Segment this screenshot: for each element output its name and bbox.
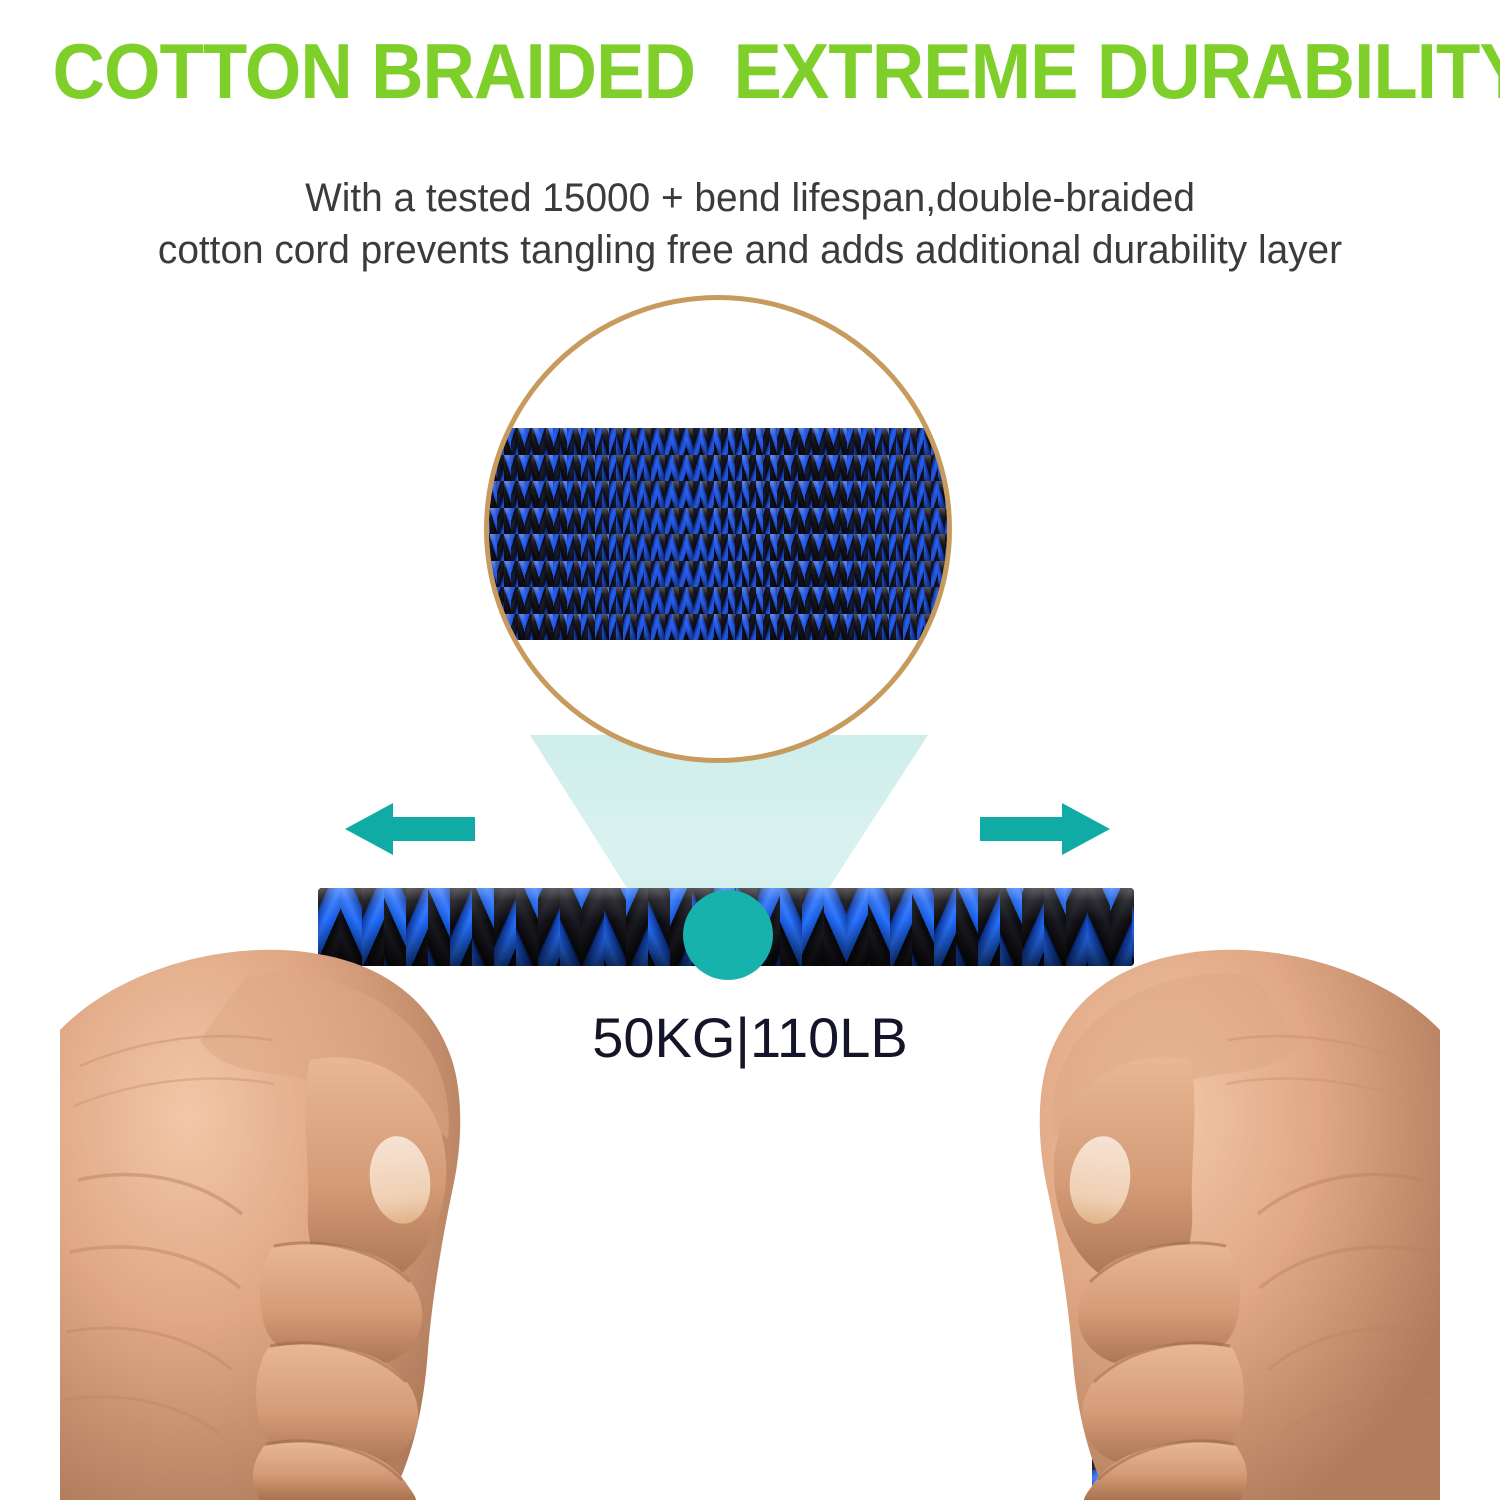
subtitle-line-2: cotton cord prevents tangling free and a… (23, 224, 1478, 276)
subtitle-line-1: With a tested 15000 + bend lifespan,doub… (23, 172, 1478, 224)
pull-left-arrow-icon (345, 800, 475, 858)
right-fist-gripping-cable (920, 880, 1440, 1500)
braid-closeup-texture (484, 428, 952, 640)
braid-row (484, 587, 952, 614)
subtitle-block: With a tested 15000 + bend lifespan,doub… (23, 172, 1478, 276)
weight-rating-label: 50KG|110LB (0, 1005, 1500, 1070)
braid-row (484, 561, 952, 588)
page-title: COTTON BRAIDED EXTREME DURABILITY (53, 30, 1448, 112)
braid-magnifier-circle (484, 295, 952, 763)
braid-row (484, 481, 952, 508)
braid-row (484, 428, 952, 455)
product-feature-image: COTTON BRAIDED EXTREME DURABILITY With a… (0, 0, 1500, 1500)
braid-row (484, 534, 952, 561)
left-fist-gripping-cable (60, 880, 580, 1500)
braid-row (484, 455, 952, 482)
braid-row (484, 614, 952, 641)
braid-row (484, 508, 952, 535)
magnifier-focus-dot (683, 890, 773, 980)
pull-right-arrow-icon (980, 800, 1110, 858)
